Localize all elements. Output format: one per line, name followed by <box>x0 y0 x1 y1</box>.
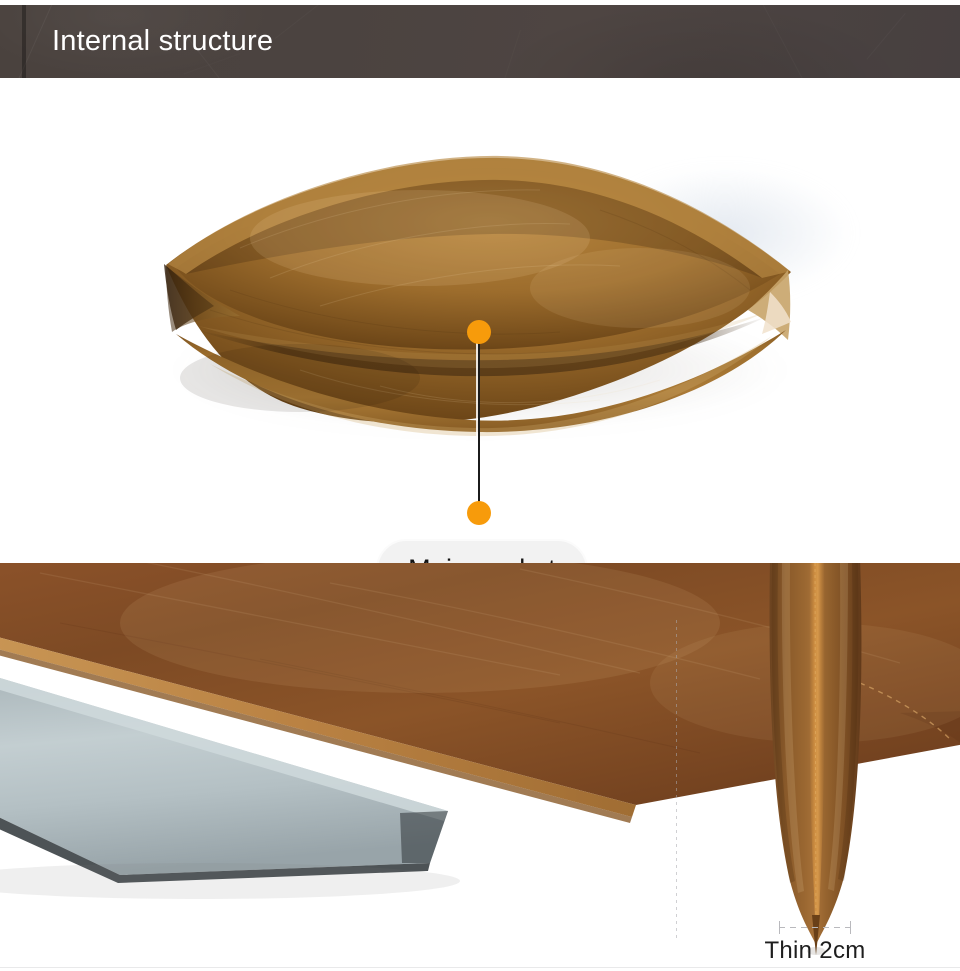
callout-anchor-dot[interactable] <box>467 320 491 344</box>
thickness-measure-line <box>779 921 851 935</box>
thickness-label: Thin 2cm <box>700 937 930 965</box>
banner-accent-stripe <box>22 5 26 78</box>
section-title: Internal structure <box>52 5 273 78</box>
marble-vein-decoration <box>486 30 521 78</box>
callout-label-dot[interactable] <box>467 501 491 525</box>
panel-divider <box>676 620 677 942</box>
laptop-and-thickness-illustration <box>0 563 960 971</box>
section-header-banner: Internal structure <box>0 5 960 78</box>
marble-vein-decoration <box>275 5 331 39</box>
marble-vein-decoration <box>866 13 905 60</box>
callout-label-main-pocket[interactable]: Main pocket <box>376 539 588 563</box>
callout-leader-line <box>478 332 480 514</box>
callout-leader-line-highlight <box>476 334 478 452</box>
bottom-hairline <box>0 967 960 968</box>
measure-tick-right <box>850 921 851 934</box>
bottom-photo-panel: Thin 2cm <box>0 563 960 971</box>
marble-vein-decoration <box>760 5 805 78</box>
measure-dashed-bar <box>779 927 851 928</box>
open-sleeve-photo-panel: Main pocket <box>0 78 960 563</box>
product-detail-image: Internal structure <box>0 0 960 971</box>
